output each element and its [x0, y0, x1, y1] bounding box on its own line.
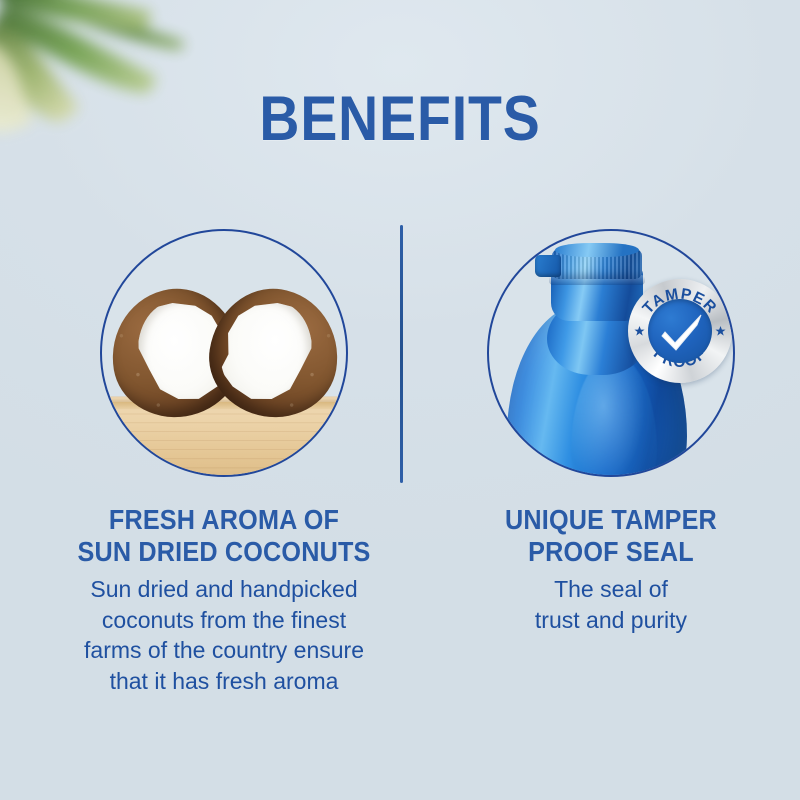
benefit-body-fresh-aroma: Sun dried and handpicked coconuts from t…	[24, 574, 424, 696]
star-icon	[634, 326, 645, 337]
bottle-illustration: TAMPER PROOF	[489, 231, 733, 475]
benefit-heading-fresh-aroma: FRESH AROMA OF SUN DRIED COCONUTS	[44, 504, 404, 569]
coconut-half-right	[201, 280, 347, 426]
body-line-3: farms of the country ensure	[24, 635, 424, 666]
heading-line-1: FRESH AROMA OF	[44, 504, 404, 536]
heading-line-2: SUN DRIED COCONUTS	[44, 536, 404, 568]
benefit-body-tamper-proof: The seal of trust and purity	[411, 574, 800, 635]
body-line-4: that it has fresh aroma	[24, 666, 424, 697]
tamper-proof-badge: TAMPER PROOF	[628, 279, 732, 383]
check-icon	[648, 299, 712, 363]
benefits-infographic: BENEFITS FRESH AROMA OF	[0, 0, 800, 800]
bottle-cap-tab	[535, 255, 561, 277]
bottle-cap-top	[555, 243, 639, 257]
star-icon	[715, 326, 726, 337]
heading-line-1: UNIQUE TAMPER	[431, 504, 791, 536]
body-line-2: coconuts from the finest	[24, 605, 424, 636]
body-line-1: Sun dried and handpicked	[24, 574, 424, 605]
bottle-image: TAMPER PROOF	[487, 229, 735, 477]
heading-line-2: PROOF SEAL	[431, 536, 791, 568]
column-divider	[400, 225, 403, 483]
body-line-1: The seal of	[411, 574, 800, 605]
body-line-2: trust and purity	[411, 605, 800, 636]
page-title: BENEFITS	[48, 88, 752, 151]
coconut-image	[100, 229, 348, 477]
benefit-heading-tamper-proof: UNIQUE TAMPER PROOF SEAL	[431, 504, 791, 569]
